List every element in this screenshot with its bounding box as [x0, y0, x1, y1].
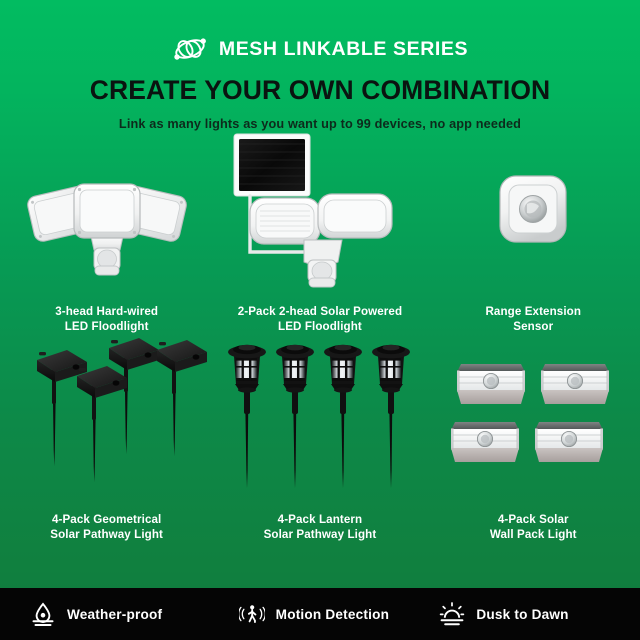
- water-drop-icon: [30, 601, 56, 627]
- feature-motion-detection: Motion Detection: [231, 601, 440, 627]
- floodlight-3-head-image: [0, 128, 213, 296]
- product-card[interactable]: 2-Pack 2-head Solar Powered LED Floodlig…: [213, 128, 426, 334]
- product-row-1: 3-head Hard-wired LED Floodlight: [0, 128, 640, 334]
- feature-label: Motion Detection: [276, 607, 389, 622]
- product-caption: 4-Pack Lantern Solar Pathway Light: [264, 512, 377, 542]
- walking-person-motion-icon: [239, 601, 265, 627]
- product-row-2: 4-Pack Geometrical Solar Pathway Light: [0, 334, 640, 542]
- product-caption: Range Extension Sensor: [485, 304, 581, 334]
- pathway-lantern-image: [213, 334, 426, 506]
- product-card[interactable]: 4-Pack Solar Wall Pack Light: [427, 334, 640, 542]
- page-title: CREATE YOUR OWN COMBINATION: [0, 75, 640, 106]
- wall-pack-image: [427, 334, 640, 506]
- product-infographic: MESH LINKABLE SERIES CREATE YOUR OWN COM…: [0, 0, 640, 640]
- product-caption: 4-Pack Geometrical Solar Pathway Light: [50, 512, 163, 542]
- feature-bar: Weather-proof: [0, 588, 640, 640]
- product-card[interactable]: 4-Pack Lantern Solar Pathway Light: [213, 334, 426, 542]
- feature-dusk-to-dawn: Dusk to Dawn: [439, 601, 640, 627]
- product-caption: 3-head Hard-wired LED Floodlight: [55, 304, 158, 334]
- mesh-link-icon: [172, 36, 210, 62]
- floodlight-2-head-solar-image: [213, 128, 426, 296]
- brand-line: MESH LINKABLE SERIES: [0, 36, 640, 62]
- product-card[interactable]: 4-Pack Geometrical Solar Pathway Light: [0, 334, 213, 542]
- product-card[interactable]: 3-head Hard-wired LED Floodlight: [0, 128, 213, 334]
- range-extension-sensor-image: [427, 128, 640, 296]
- feature-label: Dusk to Dawn: [476, 607, 568, 622]
- feature-label: Weather-proof: [67, 607, 162, 622]
- feature-weather-proof: Weather-proof: [0, 601, 231, 627]
- header: MESH LINKABLE SERIES CREATE YOUR OWN COM…: [0, 0, 640, 131]
- product-caption: 4-Pack Solar Wall Pack Light: [490, 512, 577, 542]
- product-grid: 3-head Hard-wired LED Floodlight: [0, 128, 640, 542]
- product-caption: 2-Pack 2-head Solar Powered LED Floodlig…: [238, 304, 402, 334]
- brand-title: MESH LINKABLE SERIES: [219, 38, 468, 61]
- sunset-icon: [439, 601, 465, 627]
- product-card[interactable]: Range Extension Sensor: [427, 128, 640, 334]
- pathway-geometrical-image: [0, 334, 213, 506]
